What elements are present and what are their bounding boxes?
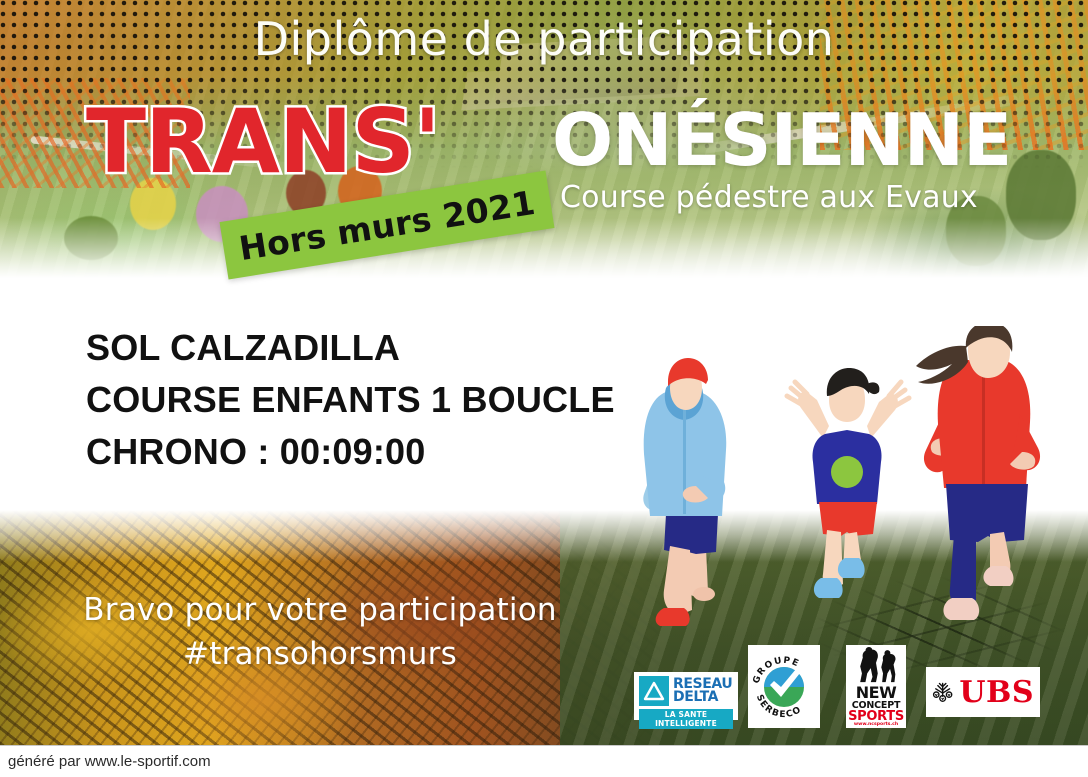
sponsor-logo-ubs[interactable]: UBS xyxy=(926,667,1040,717)
sponsor-logo-groupe-serbeco[interactable]: GROUPE SERBECO xyxy=(748,645,820,728)
child-runner-icon xyxy=(787,368,909,598)
sponsor-logos: RESEAU DELTA LA SANTE INTELLIGENTE GROUP… xyxy=(630,645,1070,730)
ubs-keys-icon xyxy=(932,673,953,711)
congratulation-message: Bravo pour votre participation #transoho… xyxy=(0,588,640,676)
diploma-page: Diplôme de participation TRANS' ONÉSIENN… xyxy=(0,0,1088,777)
hashtag-line: #transohorsmurs xyxy=(0,632,640,676)
delta-triangle-icon xyxy=(639,676,669,706)
brand-name-secondary: ONÉSIENNE xyxy=(552,104,1011,176)
page-title: Diplôme de participation xyxy=(0,12,1088,66)
generator-text: généré par www.le-sportif.com xyxy=(8,753,211,770)
adult-runner-red-icon xyxy=(916,326,1040,620)
sponsor-logo-reseau-delta[interactable]: RESEAU DELTA LA SANTE INTELLIGENTE xyxy=(634,672,738,720)
congratulation-line-1: Bravo pour votre participation xyxy=(0,588,640,632)
sponsor-logo-new-concept-sports[interactable]: NEW CONCEPT SPORTS www.ncsports.ch xyxy=(846,645,906,728)
ncs-line1: NEW xyxy=(848,685,904,701)
two-runners-icon xyxy=(850,647,902,684)
delta-tagline: LA SANTE INTELLIGENTE xyxy=(639,709,733,729)
runners-illustration xyxy=(630,326,1088,626)
brand-name-primary: TRANS' xyxy=(86,98,440,186)
generator-footer: généré par www.le-sportif.com xyxy=(0,745,1088,777)
participant-details: SOL CALZADILLA COURSE ENFANTS 1 BOUCLE C… xyxy=(86,322,615,478)
brand-subtitle: Course pédestre aux Evaux xyxy=(560,180,978,215)
adult-runner-blue-icon xyxy=(643,358,726,626)
chrono-time: CHRONO : 00:09:00 xyxy=(86,426,615,478)
delta-name-line2: DELTA xyxy=(673,691,732,704)
participant-name: SOL CALZADILLA xyxy=(86,322,615,374)
race-category: COURSE ENFANTS 1 BOUCLE xyxy=(86,374,615,426)
ncs-url: www.ncsports.ch xyxy=(848,723,904,728)
ubs-wordmark: UBS xyxy=(959,675,1034,710)
